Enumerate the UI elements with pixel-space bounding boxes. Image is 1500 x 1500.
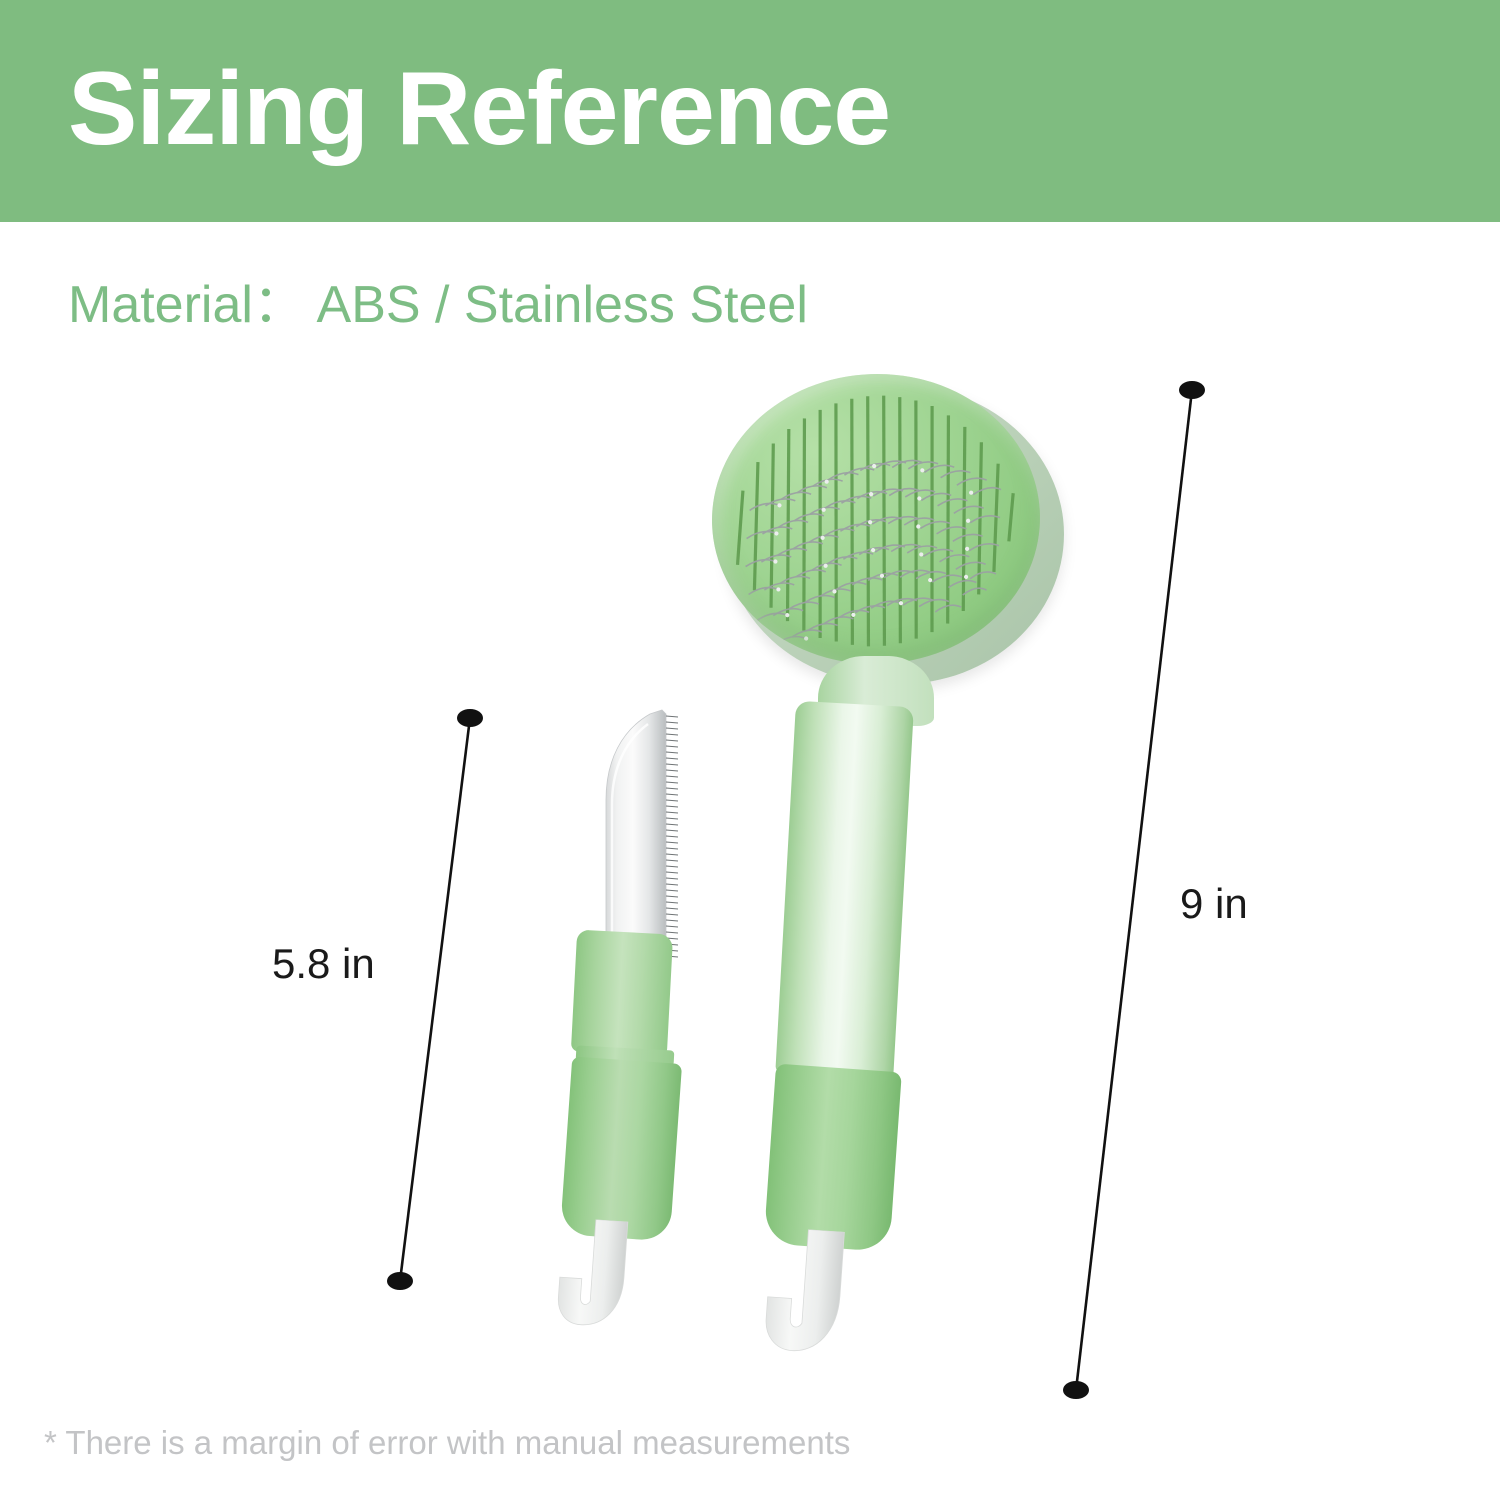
dimension-label-brush-length: 9 in	[1180, 880, 1248, 928]
dimension-label-comb-length: 5.8 in	[272, 940, 375, 988]
comb-teeth	[666, 716, 678, 957]
comb-grip	[560, 1056, 682, 1241]
comb-steel-blade	[592, 708, 680, 968]
brush-shaft	[775, 701, 914, 1079]
brush-hanging-hook	[762, 1227, 867, 1361]
product-slicker-brush	[700, 368, 1060, 1378]
sizing-reference-page: Sizing Reference Material： ABS / Stainle…	[0, 0, 1500, 1500]
measurement-disclaimer: * There is a margin of error with manual…	[44, 1424, 850, 1462]
product-illustration	[0, 0, 1500, 1500]
comb-handle-collar	[571, 930, 673, 1057]
comb-hanging-hook	[554, 1217, 648, 1335]
brush-grip	[764, 1064, 902, 1252]
